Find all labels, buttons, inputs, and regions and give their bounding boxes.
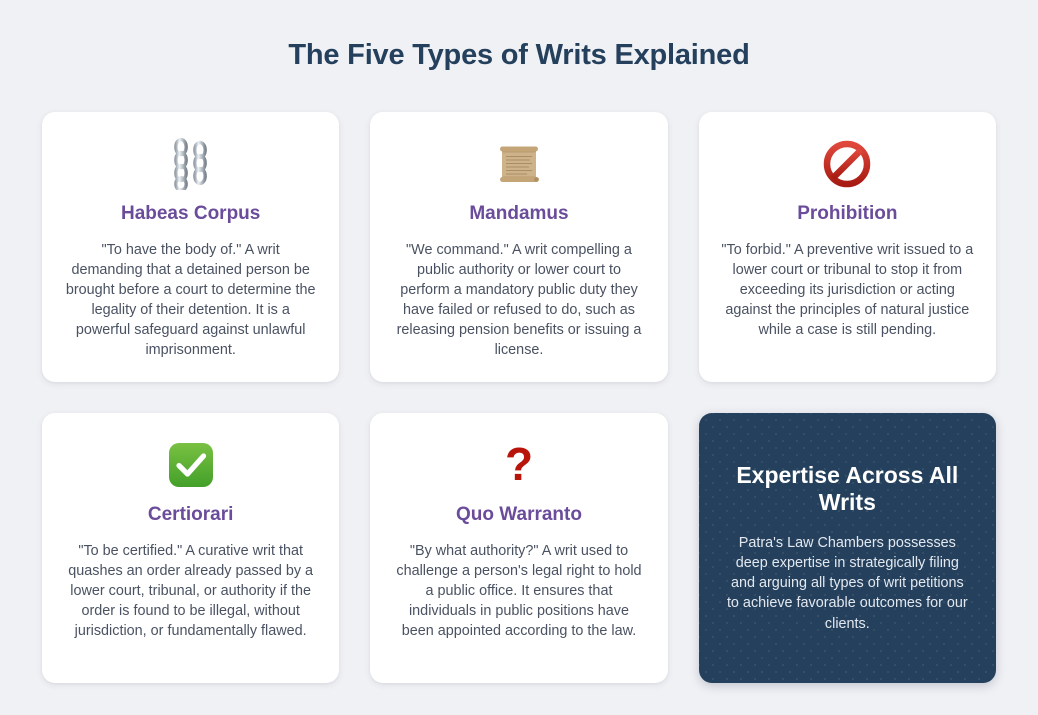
green-check-mark-icon	[163, 437, 219, 493]
writ-card-certiorari[interactable]: Certiorari "To be certified." A curative…	[42, 413, 339, 683]
writ-card-mandamus[interactable]: Mandamus "We command." A writ compelling…	[370, 112, 667, 382]
writ-card-title: Certiorari	[148, 503, 234, 527]
writ-card-description: "To forbid." A preventive writ issued to…	[721, 240, 974, 341]
writ-card-description: "To have the body of." A writ demanding …	[64, 240, 317, 361]
writ-card-description: "We command." A writ compelling a public…	[392, 240, 645, 361]
writs-card-grid: Habeas Corpus "To have the body of." A w…	[42, 112, 996, 683]
page-title: The Five Types of Writs Explained	[42, 38, 996, 73]
writ-card-title: Quo Warranto	[456, 503, 582, 527]
expertise-highlight-card[interactable]: Expertise Across All Writs Patra's Law C…	[699, 413, 996, 683]
chains-icon	[163, 136, 219, 192]
writ-card-habeas-corpus[interactable]: Habeas Corpus "To have the body of." A w…	[42, 112, 339, 382]
writ-card-title: Habeas Corpus	[121, 202, 260, 226]
writs-infographic-page: The Five Types of Writs Explained	[0, 0, 1038, 715]
scroll-icon	[491, 136, 547, 192]
writ-card-description: "By what authority?" A writ used to chal…	[392, 541, 645, 642]
prohibited-sign-icon	[819, 136, 875, 192]
writ-card-quo-warranto[interactable]: ? Quo Warranto "By what authority?" A wr…	[370, 413, 667, 683]
writ-card-title: Mandamus	[469, 202, 568, 226]
writ-card-prohibition[interactable]: Prohibition "To forbid." A preventive wr…	[699, 112, 996, 382]
writ-card-title: Prohibition	[797, 202, 897, 226]
red-question-mark-icon: ?	[491, 437, 547, 493]
highlight-card-title: Expertise Across All Writs	[725, 462, 970, 517]
highlight-card-description: Patra's Law Chambers possesses deep expe…	[725, 533, 970, 634]
writ-card-description: "To be certified." A curative writ that …	[64, 541, 317, 642]
svg-text:?: ?	[505, 440, 533, 490]
